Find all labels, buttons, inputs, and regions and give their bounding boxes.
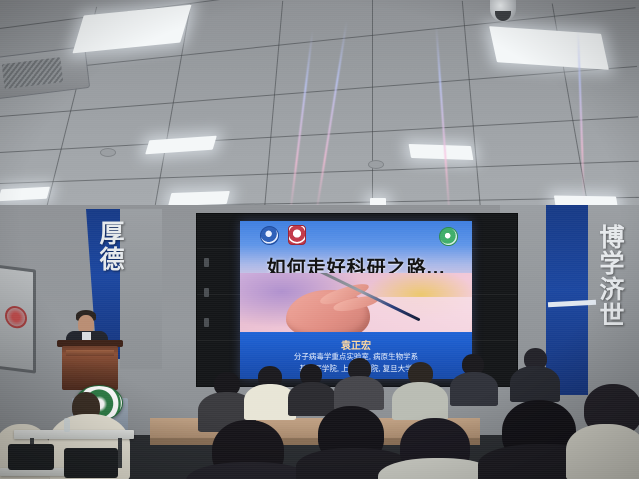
chair-back — [64, 448, 118, 478]
wall-right-char-0: 博 — [592, 225, 632, 251]
lecture-hall-photo: 厚 德 博 学 济 世 如何走好科研之路... — [0, 0, 639, 479]
society-logo-green-icon — [439, 227, 458, 246]
board-clip — [204, 258, 209, 267]
light-streak — [288, 31, 313, 220]
audience-shoulders — [510, 366, 560, 402]
smoke-detector-icon — [368, 160, 384, 169]
ceiling — [0, 0, 639, 232]
ceiling-light — [168, 191, 230, 206]
smoke-detector-icon — [100, 148, 116, 157]
wall-left-char-0: 厚 — [92, 221, 132, 247]
board-clip — [204, 288, 209, 297]
wall-right-char-3: 世 — [592, 303, 632, 329]
institute-logo-red-icon — [288, 225, 306, 245]
ceiling-grid-line — [462, 1, 483, 232]
ac-vent-grille — [1, 57, 62, 89]
ac-vent — [0, 46, 90, 100]
ceiling-light — [145, 136, 217, 155]
slide-speaker-name: 袁正宏 — [240, 337, 472, 352]
security-camera-icon — [490, 0, 516, 22]
water-bottle — [64, 418, 70, 432]
whiteboard — [0, 264, 36, 373]
light-streak — [435, 25, 451, 220]
wall-right-char-1: 学 — [592, 251, 632, 277]
audience-shoulders — [392, 382, 448, 420]
light-streak — [314, 21, 347, 219]
audience-shoulders — [334, 376, 384, 410]
audience-shoulders — [450, 372, 498, 406]
wall-left-char-1: 德 — [92, 247, 132, 273]
podium-highlight — [66, 350, 114, 356]
projected-slide: 如何走好科研之路... 袁正宏 分子病毒学重点实验室, 病原生物学系 基础医学院… — [240, 221, 472, 379]
ceiling-grid-line — [0, 66, 637, 117]
slide-photo — [240, 273, 472, 335]
wall-right-char-2: 济 — [592, 277, 632, 303]
university-logo-blue-icon — [260, 226, 279, 245]
chair-back — [8, 444, 54, 470]
ceiling-light — [489, 26, 609, 70]
ceiling-grid-line — [0, 116, 638, 153]
red-seal-icon — [5, 305, 27, 330]
audience-shoulders — [288, 382, 336, 416]
desk-leg — [118, 438, 122, 468]
ceiling-grid-line — [262, 1, 283, 232]
board-clip — [204, 318, 209, 327]
audience-shoulders — [186, 462, 314, 479]
ceiling-light — [0, 187, 50, 201]
wall-text-left: 厚 德 — [92, 221, 132, 273]
audience-shoulders — [566, 424, 639, 479]
wall-text-right: 博 学 济 世 — [592, 225, 632, 329]
ceiling-light — [409, 144, 474, 160]
ceiling-light — [72, 5, 191, 54]
